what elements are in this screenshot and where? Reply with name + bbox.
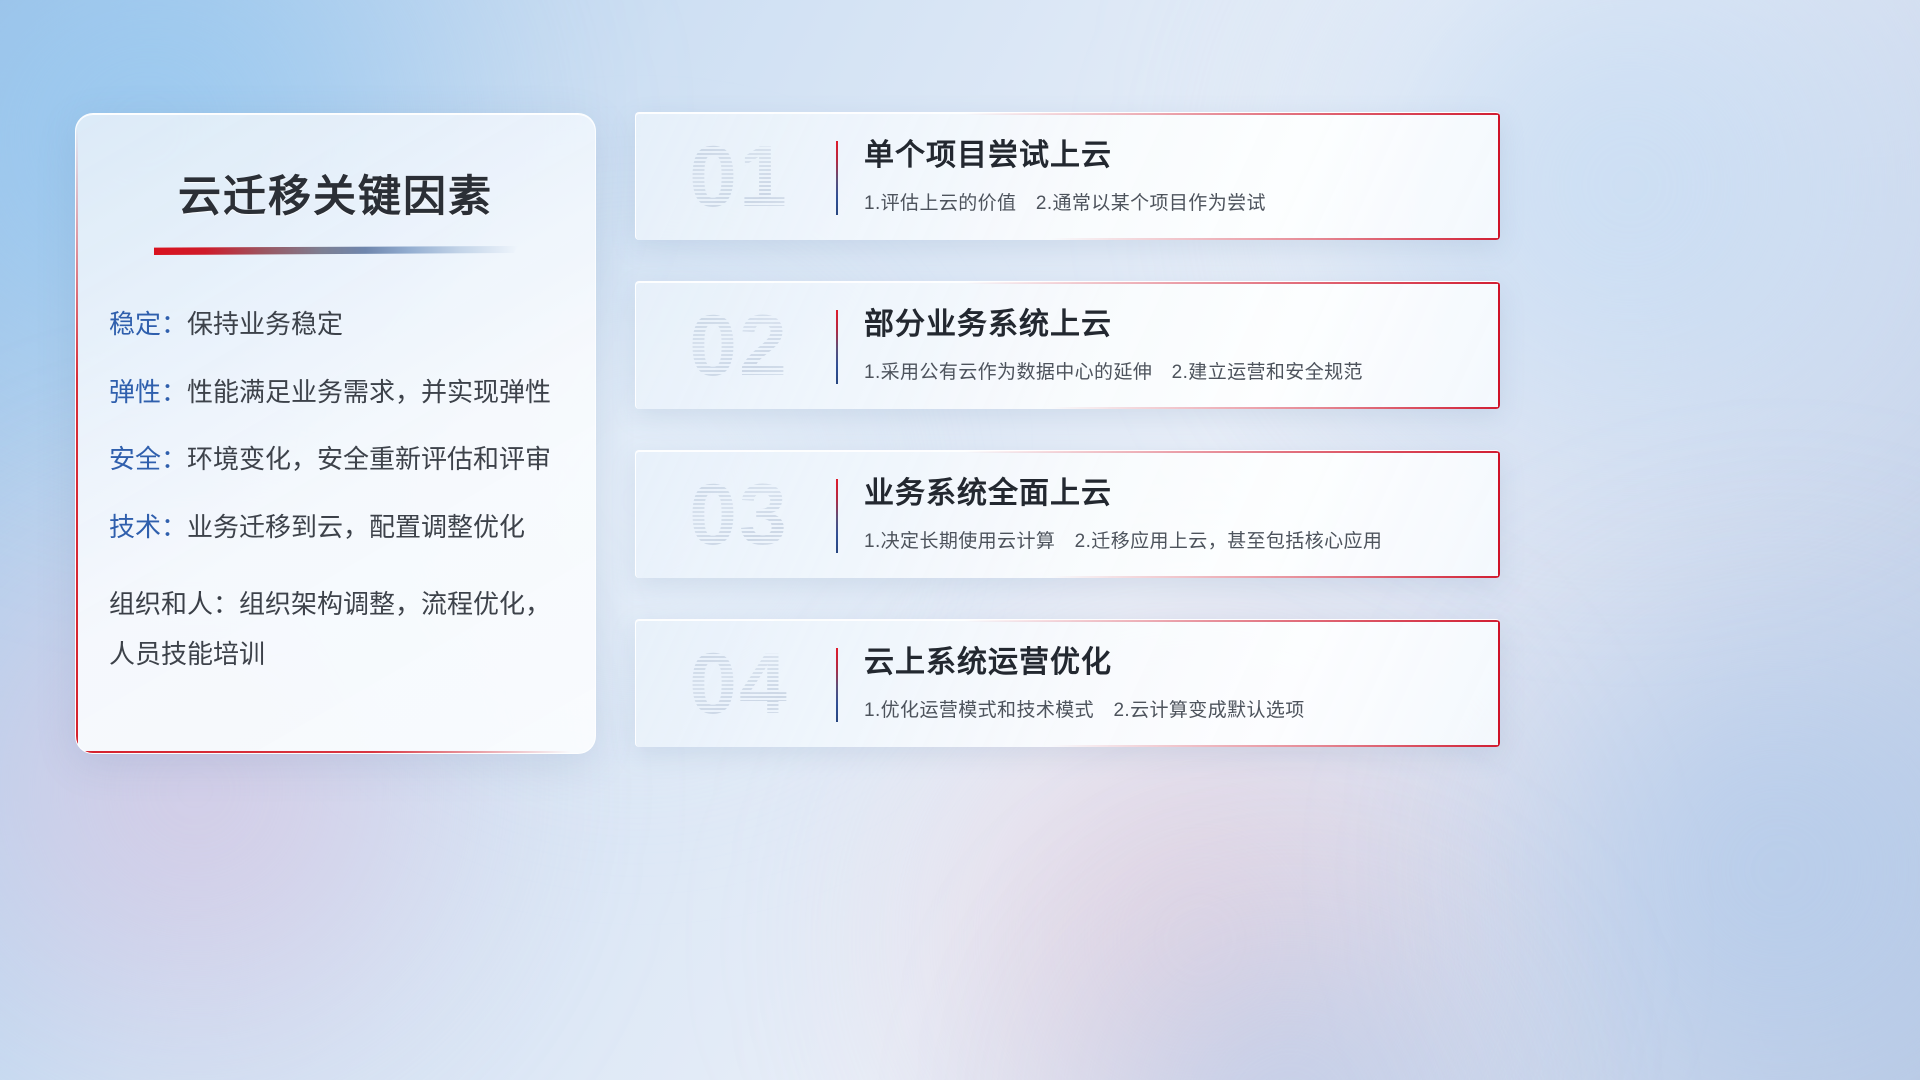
list-item-value: 环境变化，安全重新评估和评审 xyxy=(187,444,551,474)
migration-stage-cards: 01 单个项目尝试上云 1.评估上云的价值 2.通常以某个项目作为尝试 02 部… xyxy=(635,112,1500,788)
list-item-label: 安全： xyxy=(109,444,187,474)
stage-card-body: 部分业务系统上云 1.采用公有云作为数据中心的延伸 2.建立运营和安全规范 xyxy=(864,306,1460,384)
list-item-value: 业务迁移到云，配置调整优化 xyxy=(187,512,525,542)
stage-card[interactable]: 01 单个项目尝试上云 1.评估上云的价值 2.通常以某个项目作为尝试 xyxy=(635,112,1500,240)
stage-card-body: 云上系统运营优化 1.优化运营模式和技术模式 2.云计算变成默认选项 xyxy=(864,644,1460,722)
list-item-label: 组织和人： xyxy=(109,589,239,619)
list-item: 安全：环境变化，安全重新评估和评审 xyxy=(109,444,565,476)
stage-number-watermark: 03 xyxy=(664,459,814,571)
stage-number-watermark: 01 xyxy=(664,121,814,233)
stage-card-title: 业务系统全面上云 xyxy=(864,475,1460,513)
stage-divider-accent xyxy=(836,479,838,553)
list-item: 技术：业务迁移到云，配置调整优化 xyxy=(109,512,565,544)
stage-divider-accent xyxy=(836,648,838,722)
stage-card-body: 单个项目尝试上云 1.评估上云的价值 2.通常以某个项目作为尝试 xyxy=(864,137,1460,215)
stage-card-description: 1.决定长期使用云计算 2.迁移应用上云，甚至包括核心应用 xyxy=(864,526,1460,553)
list-item: 稳定：保持业务稳定 xyxy=(109,309,565,341)
stage-number-watermark: 04 xyxy=(664,628,814,740)
stage-card[interactable]: 02 部分业务系统上云 1.采用公有云作为数据中心的延伸 2.建立运营和安全规范 xyxy=(635,281,1500,409)
stage-number-watermark: 02 xyxy=(664,290,814,402)
stage-card-body: 业务系统全面上云 1.决定长期使用云计算 2.迁移应用上云，甚至包括核心应用 xyxy=(864,475,1460,553)
key-factors-panel: 云迁移关键因素 稳定：保持业务稳定 弹性：性能满足业务需求，并实现弹性 安全：环… xyxy=(75,113,596,754)
list-item-value: 保持业务稳定 xyxy=(187,309,343,339)
stage-divider-accent xyxy=(836,310,838,384)
stage-card-description: 1.评估上云的价值 2.通常以某个项目作为尝试 xyxy=(864,188,1460,215)
stage-card[interactable]: 04 云上系统运营优化 1.优化运营模式和技术模式 2.云计算变成默认选项 xyxy=(635,619,1500,747)
title-underline-accent xyxy=(154,246,518,255)
list-item-value: 性能满足业务需求，并实现弹性 xyxy=(187,377,551,407)
list-item-label: 稳定： xyxy=(109,309,187,339)
stage-card[interactable]: 03 业务系统全面上云 1.决定长期使用云计算 2.迁移应用上云，甚至包括核心应… xyxy=(635,450,1500,578)
stage-card-description: 1.优化运营模式和技术模式 2.云计算变成默认选项 xyxy=(864,695,1460,722)
stage-divider-accent xyxy=(836,141,838,215)
stage-card-title: 单个项目尝试上云 xyxy=(864,137,1460,175)
card-bottom-accent xyxy=(1051,745,1500,747)
card-bottom-accent xyxy=(1051,238,1500,240)
key-factors-list: 稳定：保持业务稳定 弹性：性能满足业务需求，并实现弹性 安全：环境变化，安全重新… xyxy=(76,309,595,680)
list-item-label: 技术： xyxy=(109,512,187,542)
card-bottom-accent xyxy=(1051,407,1500,409)
list-item: 弹性：性能满足业务需求，并实现弹性 xyxy=(109,377,565,409)
stage-card-description: 1.采用公有云作为数据中心的延伸 2.建立运营和安全规范 xyxy=(864,357,1460,384)
stage-card-title: 云上系统运营优化 xyxy=(864,644,1460,682)
page-title: 云迁移关键因素 xyxy=(76,162,595,224)
list-item: 组织和人：组织架构调整，流程优化，人员技能培训 xyxy=(109,580,565,680)
stage-card-title: 部分业务系统上云 xyxy=(864,306,1460,344)
list-item-label: 弹性： xyxy=(109,377,187,407)
card-bottom-accent xyxy=(1051,576,1500,578)
